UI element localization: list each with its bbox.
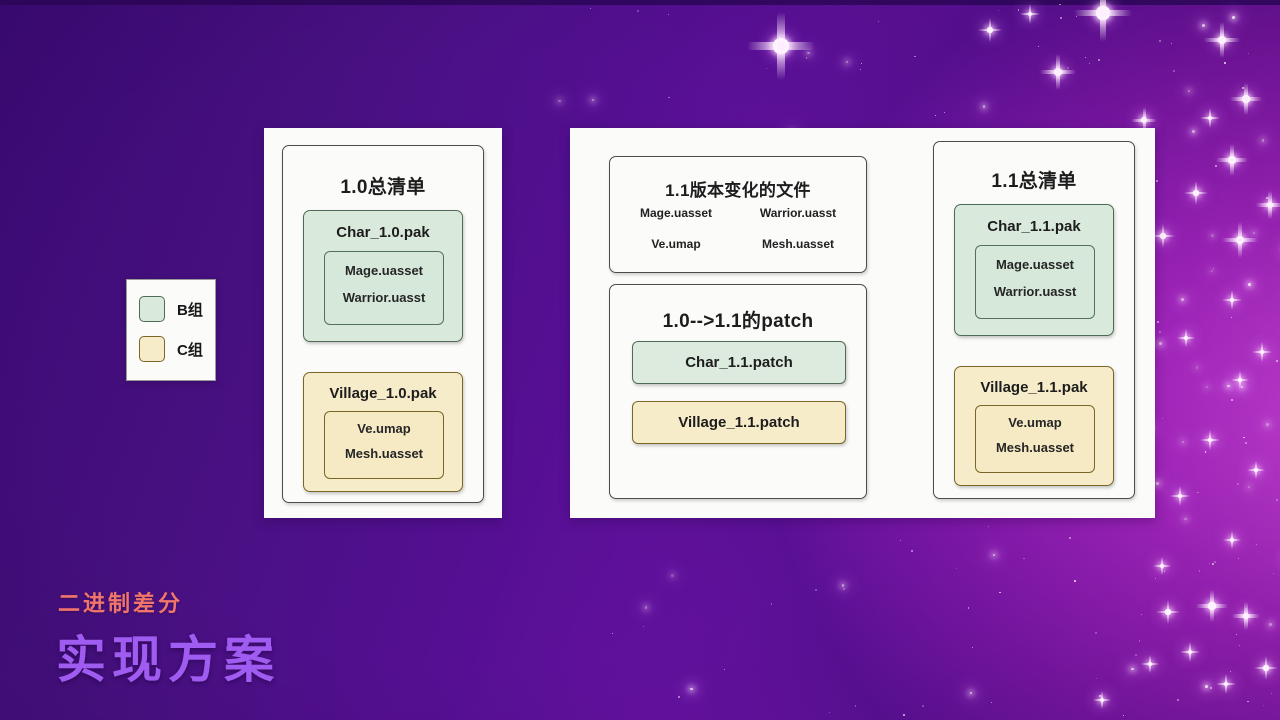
group-label-village-1-1-pak: Village_1.1.pak (955, 379, 1113, 396)
chip-village-1-1-patch[interactable]: Village_1.1.patch (632, 401, 846, 444)
chip-char-1-1-patch[interactable]: Char_1.1.patch (632, 341, 846, 384)
slide-headline: 实现方案 (56, 620, 280, 692)
group-village-1-0-pak: Village_1.0.pak Ve.umap Mesh.uasset (303, 372, 463, 492)
group-label-char-1-1-pak: Char_1.1.pak (955, 218, 1113, 235)
legend-item-b: B组 (139, 296, 203, 322)
file-item: Ve.umap (325, 421, 443, 436)
slide-canvas: 1.0总清单 Char_1.0.pak Mage.uasset Warrior.… (0, 0, 1280, 720)
panel-title-v11: 1.1总清单 (934, 166, 1134, 193)
group-village-1-1-pak: Village_1.1.pak Ve.umap Mesh.uasset (954, 366, 1114, 486)
file-item: Mesh.uasset (325, 446, 443, 461)
inner-files-char-1-1: Mage.uasset Warrior.uasst (975, 245, 1095, 319)
file-item: Mage.uasset (325, 263, 443, 278)
group-label-village-1-0-pak: Village_1.0.pak (304, 385, 462, 402)
legend-label-c: C组 (177, 339, 203, 360)
top-edge-bar (0, 0, 1280, 5)
legend-label-b: B组 (177, 299, 203, 320)
box-patch: 1.0-->1.1的patch Char_1.1.patch Village_1… (609, 284, 867, 499)
legend-swatch-yellow-icon (139, 336, 165, 362)
group-char-1-1-pak: Char_1.1.pak Mage.uasset Warrior.uasst (954, 204, 1114, 336)
box-changed-files: 1.1版本变化的文件 Mage.uasset Warrior.uasst Ve.… (609, 156, 867, 273)
changed-file-item: Mage.uasset (620, 206, 732, 220)
group-char-1-0-pak: Char_1.0.pak Mage.uasset Warrior.uasst (303, 210, 463, 342)
legend: B组 C组 (126, 279, 216, 381)
box-v10-manifest: 1.0总清单 Char_1.0.pak Mage.uasset Warrior.… (282, 145, 484, 503)
group-label-char-1-0-pak: Char_1.0.pak (304, 224, 462, 241)
panel-title-v10: 1.0总清单 (283, 172, 483, 199)
panel-patch-and-v11: 1.1版本变化的文件 Mage.uasset Warrior.uasst Ve.… (570, 128, 1155, 518)
legend-item-c: C组 (139, 336, 203, 362)
inner-files-village-1-0: Ve.umap Mesh.uasset (324, 411, 444, 479)
panel-title-patch: 1.0-->1.1的patch (610, 306, 866, 333)
panel-v10-manifest: 1.0总清单 Char_1.0.pak Mage.uasset Warrior.… (264, 128, 502, 518)
box-v11-manifest: 1.1总清单 Char_1.1.pak Mage.uasset Warrior.… (933, 141, 1135, 499)
file-item: Mesh.uasset (976, 440, 1094, 455)
changed-file-item: Mesh.uasset (738, 237, 858, 251)
file-item: Mage.uasset (976, 257, 1094, 272)
changed-file-item: Ve.umap (620, 237, 732, 251)
panel-title-changed-files: 1.1版本变化的文件 (610, 176, 866, 201)
file-item: Ve.umap (976, 415, 1094, 430)
file-item: Warrior.uasst (976, 284, 1094, 299)
inner-files-char-1-0: Mage.uasset Warrior.uasst (324, 251, 444, 325)
legend-swatch-green-icon (139, 296, 165, 322)
slide-kicker: 二进制差分 (58, 586, 183, 618)
inner-files-village-1-1: Ve.umap Mesh.uasset (975, 405, 1095, 473)
file-item: Warrior.uasst (325, 290, 443, 305)
changed-file-item: Warrior.uasst (738, 206, 858, 220)
